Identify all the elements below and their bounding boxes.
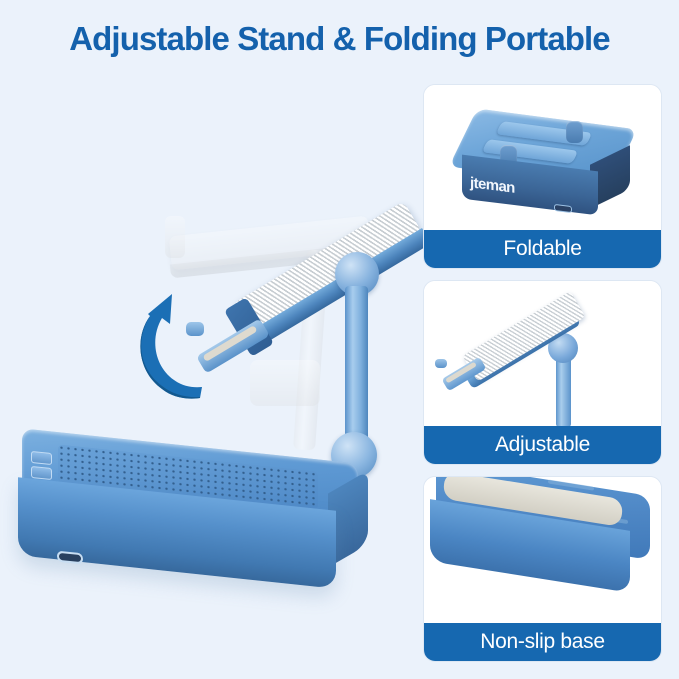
- panel-caption-non-slip-base: Non-slip base: [424, 623, 661, 661]
- ghost-clamp-left: [165, 216, 185, 258]
- button-power-icon[interactable]: [31, 451, 52, 465]
- ghost-clamp-lower: [250, 360, 320, 406]
- panel-caption-adjustable: Adjustable: [424, 426, 661, 464]
- feature-panel-adjustable[interactable]: Adjustable: [423, 280, 662, 465]
- product-infographic: Adjustable Stand & Folding Portable: [0, 0, 679, 679]
- stand-arm-post: [345, 286, 368, 448]
- non-slip-base-photo: [424, 477, 661, 623]
- folded-stand-photo: jteman: [424, 85, 661, 230]
- panel-caption-foldable: Foldable: [424, 230, 661, 268]
- phone-clamp-lip: [435, 359, 447, 368]
- rotation-arrow-icon: [120, 280, 250, 410]
- tilted-arm-photo: [424, 281, 661, 426]
- button-bluetooth-icon[interactable]: [31, 466, 52, 480]
- hero-product-image: [0, 0, 420, 679]
- usb-c-port-icon: [57, 551, 83, 565]
- feature-panel-foldable[interactable]: jteman Foldable: [423, 84, 662, 269]
- usb-c-port-icon: [554, 204, 572, 213]
- folded-knob-upper: [566, 121, 583, 143]
- feature-panel-non-slip-base[interactable]: Non-slip base: [423, 476, 662, 662]
